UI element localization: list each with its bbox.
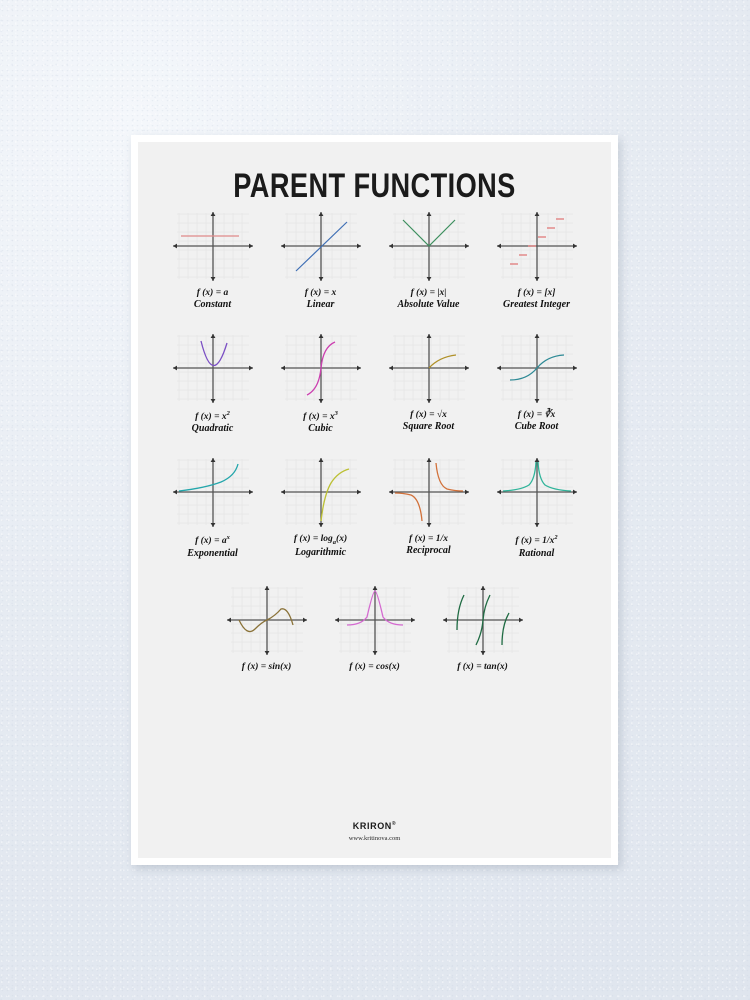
function-labels: f (x) = sin(x) <box>242 662 291 673</box>
function-labels: f (x) = loga(x) Logarithmic <box>294 534 347 558</box>
row-spacer <box>138 435 611 455</box>
brand-text: KRIRON <box>353 821 392 831</box>
graph-greatest-integer <box>495 209 579 285</box>
graph-reciprocal <box>387 455 471 531</box>
function-equation: f (x) = cos(x) <box>349 662 400 673</box>
axes <box>497 458 577 527</box>
function-cell-rational: f (x) = 1/x2 Rational <box>483 455 591 559</box>
function-cell-square-root: f (x) = √x Square Root <box>375 331 483 433</box>
axes <box>173 334 253 403</box>
page-title: PARENT FUNCTIONS <box>185 169 563 203</box>
function-row-2: f (x) = x2 Quadratic <box>138 331 611 435</box>
function-cell-sine: f (x) = sin(x) <box>213 583 321 673</box>
function-equation: f (x) = |x| <box>398 288 460 299</box>
function-labels: f (x) = tan(x) <box>457 662 508 673</box>
function-equation: f (x) = [x] <box>503 288 570 299</box>
graph-cubic <box>279 331 363 407</box>
curve-logarithmic <box>321 469 349 521</box>
function-labels: f (x) = a Constant <box>194 288 231 311</box>
function-name: Logarithmic <box>294 547 347 559</box>
function-equation: f (x) = x3 <box>303 410 338 423</box>
function-cell-cosine: f (x) = cos(x) <box>321 583 429 673</box>
function-name: Square Root <box>403 421 454 433</box>
graph-logarithmic <box>279 455 363 531</box>
graph-sine <box>225 583 309 659</box>
graph-cosine <box>333 583 417 659</box>
function-equation: f (x) = a <box>194 288 231 299</box>
function-labels: f (x) = x2 Quadratic <box>192 410 234 435</box>
axes <box>389 458 469 527</box>
function-labels: f (x) = ax Exponential <box>187 534 238 559</box>
function-labels: f (x) = x Linear <box>305 288 337 311</box>
function-labels: f (x) = |x| Absolute Value <box>398 288 460 311</box>
function-cell-absolute-value: f (x) = |x| Absolute Value <box>375 209 483 311</box>
function-name: Rational <box>515 548 557 560</box>
function-name: Greatest Integer <box>503 299 570 311</box>
function-cell-logarithmic: f (x) = loga(x) Logarithmic <box>267 455 375 558</box>
curve-square-root <box>429 355 456 368</box>
function-equation: f (x) = x <box>305 288 337 299</box>
axes <box>173 458 253 527</box>
function-name: Constant <box>194 299 231 311</box>
registered-trademark-icon: ® <box>392 821 396 827</box>
graph-tangent <box>441 583 525 659</box>
function-cell-exponential: f (x) = ax Exponential <box>159 455 267 559</box>
function-name: Quadratic <box>192 423 234 435</box>
axes <box>497 212 577 281</box>
function-name: Linear <box>305 299 337 311</box>
function-cell-linear: f (x) = x Linear <box>267 209 375 311</box>
graph-linear <box>279 209 363 285</box>
function-cell-cubic: f (x) = x3 Cubic <box>267 331 375 435</box>
curve-quadratic <box>201 341 227 366</box>
function-labels: f (x) = 1/x2 Rational <box>515 534 557 559</box>
function-equation: f (x) = 1/x <box>406 534 450 545</box>
function-name: Absolute Value <box>398 299 460 311</box>
function-cell-cube-root: f (x) = ∛x Cube Root <box>483 331 591 433</box>
function-name: Cubic <box>303 423 338 435</box>
function-labels: f (x) = [x] Greatest Integer <box>503 288 570 311</box>
function-name: Reciprocal <box>406 545 450 557</box>
axes <box>335 586 415 655</box>
graph-rational <box>495 455 579 531</box>
footer-brand: KRIRON® www.kritinova.com <box>138 816 611 842</box>
function-equation: f (x) = ∛x <box>515 410 559 421</box>
poster-canvas: PARENT FUNCTIONS <box>138 142 611 858</box>
function-labels: f (x) = √x Square Root <box>403 410 454 433</box>
row-spacer <box>138 311 611 331</box>
axes <box>389 334 469 403</box>
graph-cube-root <box>495 331 579 407</box>
row-spacer <box>138 559 611 583</box>
graph-exponential <box>171 455 255 531</box>
function-cell-reciprocal: f (x) = 1/x Reciprocal <box>375 455 483 557</box>
function-cell-greatest-integer: f (x) = [x] Greatest Integer <box>483 209 591 311</box>
function-equation: f (x) = 1/x2 <box>515 534 557 547</box>
brand-url: www.kritinova.com <box>138 835 611 842</box>
function-cell-constant: f (x) = a Constant <box>159 209 267 311</box>
function-row-1: f (x) = a Constant <box>138 209 611 311</box>
function-cell-quadratic: f (x) = x2 Quadratic <box>159 331 267 435</box>
function-equation: f (x) = ax <box>187 534 238 547</box>
graph-quadratic <box>171 331 255 407</box>
function-name: Exponential <box>187 548 238 560</box>
brand-name: KRIRON® <box>353 821 396 831</box>
graph-absolute-value <box>387 209 471 285</box>
function-name: Cube Root <box>515 421 559 433</box>
poster-frame: PARENT FUNCTIONS <box>131 135 618 865</box>
function-equation: f (x) = sin(x) <box>242 662 291 673</box>
function-equation: f (x) = √x <box>403 410 454 421</box>
graph-constant <box>171 209 255 285</box>
function-row-3: f (x) = ax Exponential <box>138 455 611 559</box>
function-labels: f (x) = ∛x Cube Root <box>515 410 559 433</box>
function-labels: f (x) = 1/x Reciprocal <box>406 534 450 557</box>
axes <box>173 212 253 281</box>
function-equation: f (x) = loga(x) <box>294 534 347 547</box>
function-equation: f (x) = x2 <box>192 410 234 423</box>
function-labels: f (x) = cos(x) <box>349 662 400 673</box>
function-row-4: f (x) = sin(x) <box>138 583 611 673</box>
function-labels: f (x) = x3 Cubic <box>303 410 338 435</box>
function-equation: f (x) = tan(x) <box>457 662 508 673</box>
function-cell-tangent: f (x) = tan(x) <box>429 583 537 673</box>
graph-square-root <box>387 331 471 407</box>
